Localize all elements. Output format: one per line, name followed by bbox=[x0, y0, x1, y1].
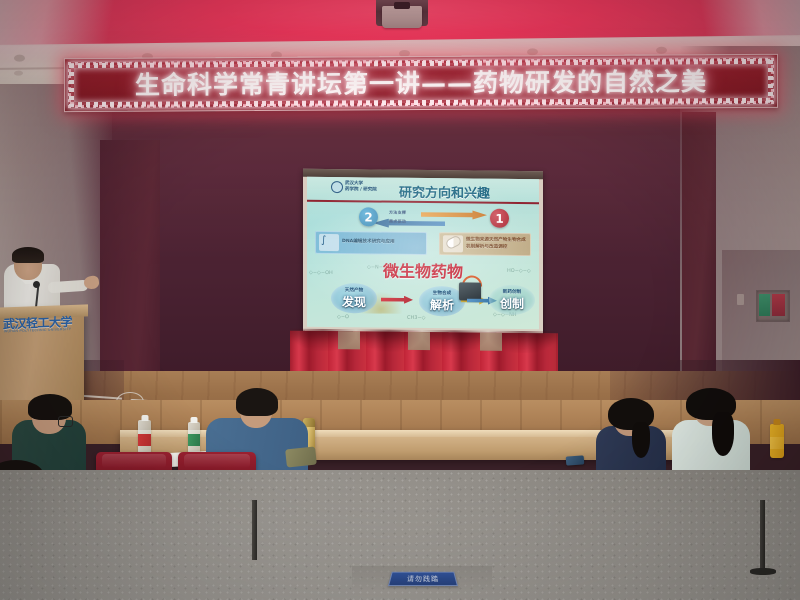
bottle-label bbox=[770, 437, 784, 449]
slide-title: 研究方向和兴趣 bbox=[399, 182, 490, 202]
slide-logo-text: 武汉大学 药学院 / 研究院 bbox=[345, 182, 377, 194]
floor-sign: 请勿践踏 bbox=[388, 572, 458, 586]
slide-topic-boxes: ∫ DNA编辑技术研究与应用 微生物来源天然产物生物合成机制解析与改造调控 bbox=[315, 231, 531, 259]
ceiling-projector bbox=[382, 6, 422, 28]
slide-body: ◇−◇−OH ◇−N−O HO−◇−◇ ◇−◇−NH CH3−◇ ◇−O 微生物… bbox=[307, 257, 539, 329]
arrow-label-top: 方法支撑 bbox=[389, 210, 406, 216]
wall-control-panel[interactable] bbox=[756, 290, 790, 322]
flow-node-3-main: 创制 bbox=[500, 294, 524, 311]
slide-topic-box-left-text: DNA编辑技术研究与应用 bbox=[342, 240, 395, 247]
arrow-label-bottom: 需求驱动 bbox=[389, 219, 406, 225]
bottle-label bbox=[188, 434, 200, 446]
panel-red-indicator-icon bbox=[772, 294, 785, 316]
juice-bottle bbox=[770, 424, 784, 458]
valance-swag-4 bbox=[488, 331, 558, 354]
projector-lens-icon bbox=[394, 2, 410, 9]
university-crest-icon bbox=[331, 181, 343, 193]
floor-stanchion-base bbox=[750, 568, 776, 575]
slide-logo-line2: 药学院 / 研究院 bbox=[345, 187, 377, 193]
smartphone[interactable] bbox=[566, 455, 585, 465]
valance-swag-3 bbox=[422, 330, 488, 353]
led-banner-text: 生命科学常青讲坛第一讲——药物研发的自然之美 bbox=[65, 62, 777, 102]
hair-ponytail bbox=[712, 412, 734, 456]
slide-badge-2: 2 bbox=[359, 207, 378, 226]
lecture-hall-photo: 生命科学常青讲坛第一讲——药物研发的自然之美 武汉大学 药学院 / 研究院 研究… bbox=[0, 0, 800, 600]
presenter-hair bbox=[12, 247, 44, 263]
valance-swag-2 bbox=[356, 329, 422, 352]
bottle-cap bbox=[141, 415, 148, 421]
projection-screen: 武汉大学 药学院 / 研究院 研究方向和兴趣 方法支撑 需求驱动 2 1 ∫ D… bbox=[303, 169, 543, 336]
canvas-bag bbox=[285, 446, 317, 467]
soffit-downlight bbox=[656, 47, 667, 54]
slide-center-title: 微生物药物 bbox=[307, 257, 539, 283]
aisle-pole-left bbox=[252, 500, 257, 560]
arrow-left-icon bbox=[373, 218, 445, 228]
light-switch[interactable] bbox=[737, 294, 744, 305]
capsule-icon bbox=[443, 235, 463, 252]
bottle-cap bbox=[774, 419, 781, 425]
led-banner: 生命科学常青讲坛第一讲——药物研发的自然之美 bbox=[64, 54, 778, 112]
bioreactor-icon bbox=[459, 282, 481, 300]
water-bottle bbox=[138, 420, 151, 454]
slide-topic-box-right: 微生物来源天然产物生物合成机制解析与改造调控 bbox=[439, 232, 531, 256]
flow-node-creation: 新药创制 创制 bbox=[489, 285, 535, 315]
soffit-downlight bbox=[14, 71, 23, 76]
microphone-icon bbox=[33, 281, 40, 288]
floor-sign-text: 请勿践踏 bbox=[406, 574, 439, 584]
valance-swag-1 bbox=[290, 329, 356, 352]
chem-structure-6: ◇−O bbox=[337, 315, 349, 320]
bottle-cap bbox=[191, 417, 198, 423]
presentation-slide: 武汉大学 药学院 / 研究院 研究方向和兴趣 方法支撑 需求驱动 2 1 ∫ D… bbox=[307, 177, 539, 329]
slide-topic-box-left: ∫ DNA编辑技术研究与应用 bbox=[315, 231, 427, 255]
panel-green-indicator-icon bbox=[759, 294, 770, 316]
arrow-right-icon bbox=[421, 210, 487, 220]
water-bottle bbox=[188, 422, 200, 454]
slide-arrow-diagram: 方法支撑 需求驱动 2 1 bbox=[317, 204, 529, 232]
right-wall-pillar bbox=[682, 112, 716, 380]
audience-hair bbox=[236, 388, 278, 416]
flow-node-1-main: 发现 bbox=[342, 293, 366, 310]
slide-topic-box-right-text: 微生物来源天然产物生物合成机制解析与改造调控 bbox=[466, 238, 527, 251]
slide-university-logo: 武汉大学 药学院 / 研究院 bbox=[331, 181, 377, 193]
bottle-label bbox=[138, 434, 151, 446]
flow-node-discovery: 天然产物 发现 bbox=[331, 283, 377, 313]
floor-stanchion-pole bbox=[760, 500, 765, 572]
dna-icon: ∫ bbox=[319, 234, 339, 251]
left-wall-door bbox=[100, 140, 160, 376]
flow-node-2-main: 解析 bbox=[430, 296, 454, 313]
chem-structure-5: CH3−◇ bbox=[407, 316, 425, 321]
hair-ponytail bbox=[632, 422, 650, 458]
slide-badge-1: 1 bbox=[490, 209, 509, 228]
eyeglasses bbox=[58, 416, 73, 427]
soffit-downlight bbox=[14, 55, 25, 62]
